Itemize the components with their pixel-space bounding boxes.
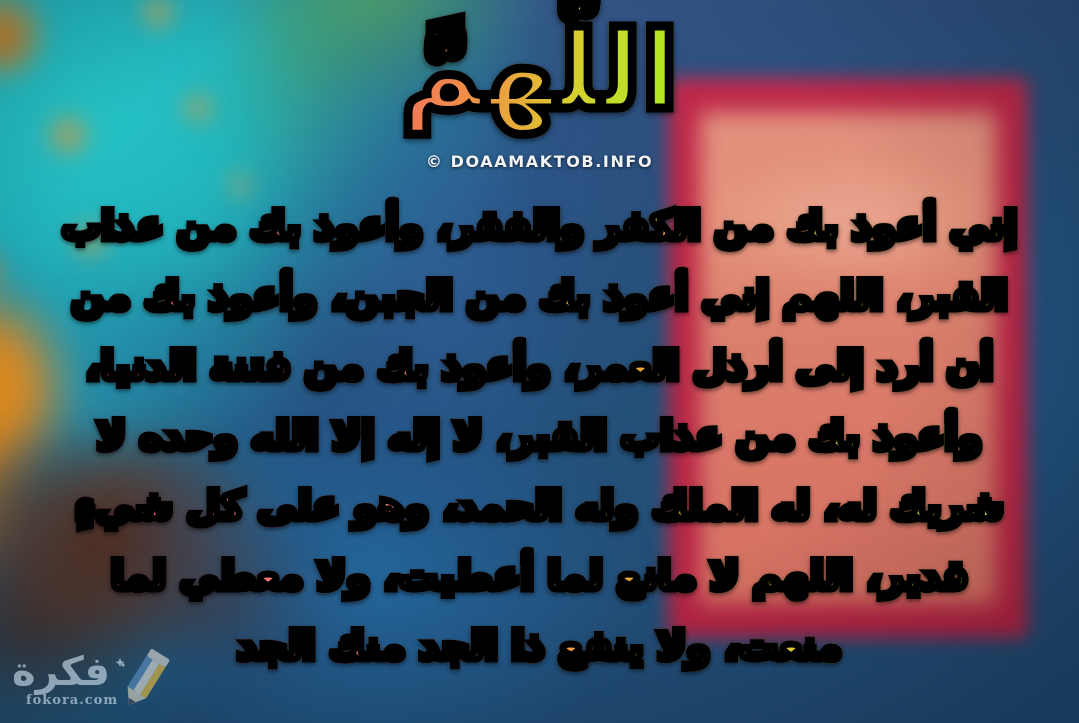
pencil-icon — [112, 645, 176, 713]
title-block: اللَّهمَّ — [0, 6, 1079, 138]
dua-line: القبر، اللهم إني أعوذ بك من الجبن، وأعوذ… — [26, 262, 1053, 332]
watermark-site-label: fokora.com — [26, 693, 118, 708]
page-title: اللَّهمَّ — [401, 6, 679, 138]
dua-line: شريك له، له الملك وله الحمد، وهو على كل … — [26, 472, 1053, 542]
watermark-arabic-label: فكرة — [12, 649, 110, 695]
copyright-credit: © DOAAMAKTOB.INFO — [0, 152, 1079, 171]
dua-line: وأعوذ بك من عذاب القبر، لا إله إلا الله … — [26, 402, 1053, 472]
dua-poster: اللَّهمَّ © DOAAMAKTOB.INFO إني أعوذ بك … — [0, 0, 1079, 723]
dua-line: قدير، اللهم لا مانع لما أعطيت، ولا معطي … — [26, 542, 1053, 612]
dua-text-block: إني أعوذ بك من الكفر والفقر، وأعوذ بك من… — [26, 192, 1053, 682]
site-watermark: فكرة fokora.com — [8, 643, 180, 717]
dua-line: أن أرد إلى أرذل العمر، وأعوذ بك من فتنة … — [26, 332, 1053, 402]
dua-line: منعت، ولا ينفع ذا الجد منك الجد — [26, 612, 1053, 682]
dua-line: إني أعوذ بك من الكفر والفقر، وأعوذ بك من… — [26, 192, 1053, 262]
